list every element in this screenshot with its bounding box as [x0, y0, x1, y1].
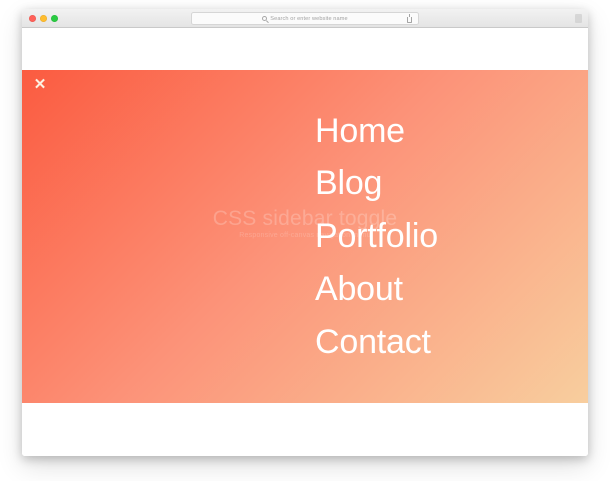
nav-item-blog[interactable]: Blog [315, 157, 438, 210]
watermark-subtitle: Responsive off-canvas navigation menu [22, 232, 588, 239]
offcanvas-overlay-panel: ✕ CSS sidebar toggle Responsive off-canv… [22, 70, 588, 403]
watermark: CSS sidebar toggle Responsive off-canvas… [22, 208, 588, 239]
address-bar-content: Search or enter website name [262, 16, 347, 22]
overlay-close-button[interactable]: ✕ [30, 74, 50, 94]
close-window-button[interactable] [29, 15, 36, 22]
page-bottom-band [22, 403, 588, 456]
close-icon: ✕ [34, 77, 47, 92]
browser-window: Search or enter website name ✕ CSS sideb… [22, 9, 588, 456]
browser-toolbar: Search or enter website name [22, 9, 588, 28]
sidebar-toggle-icon[interactable] [575, 14, 582, 23]
zoom-window-button[interactable] [51, 15, 58, 22]
minimize-window-button[interactable] [40, 15, 47, 22]
traffic-light-group [29, 15, 58, 22]
screenshot-stage: Search or enter website name ✕ CSS sideb… [0, 0, 610, 481]
nav-item-portfolio[interactable]: Portfolio [315, 210, 438, 263]
address-bar[interactable]: Search or enter website name [191, 12, 419, 25]
nav-item-contact[interactable]: Contact [315, 316, 438, 369]
page-content: ✕ CSS sidebar toggle Responsive off-canv… [22, 28, 588, 456]
reload-icon[interactable] [407, 17, 412, 23]
watermark-title: CSS sidebar toggle [22, 208, 588, 230]
page-top-band [22, 28, 588, 70]
address-bar-placeholder: Search or enter website name [270, 16, 347, 22]
nav-item-home[interactable]: Home [315, 105, 438, 158]
search-icon [262, 16, 267, 21]
nav-item-about[interactable]: About [315, 263, 438, 316]
overlay-nav-menu: Home Blog Portfolio About Contact [315, 70, 438, 403]
